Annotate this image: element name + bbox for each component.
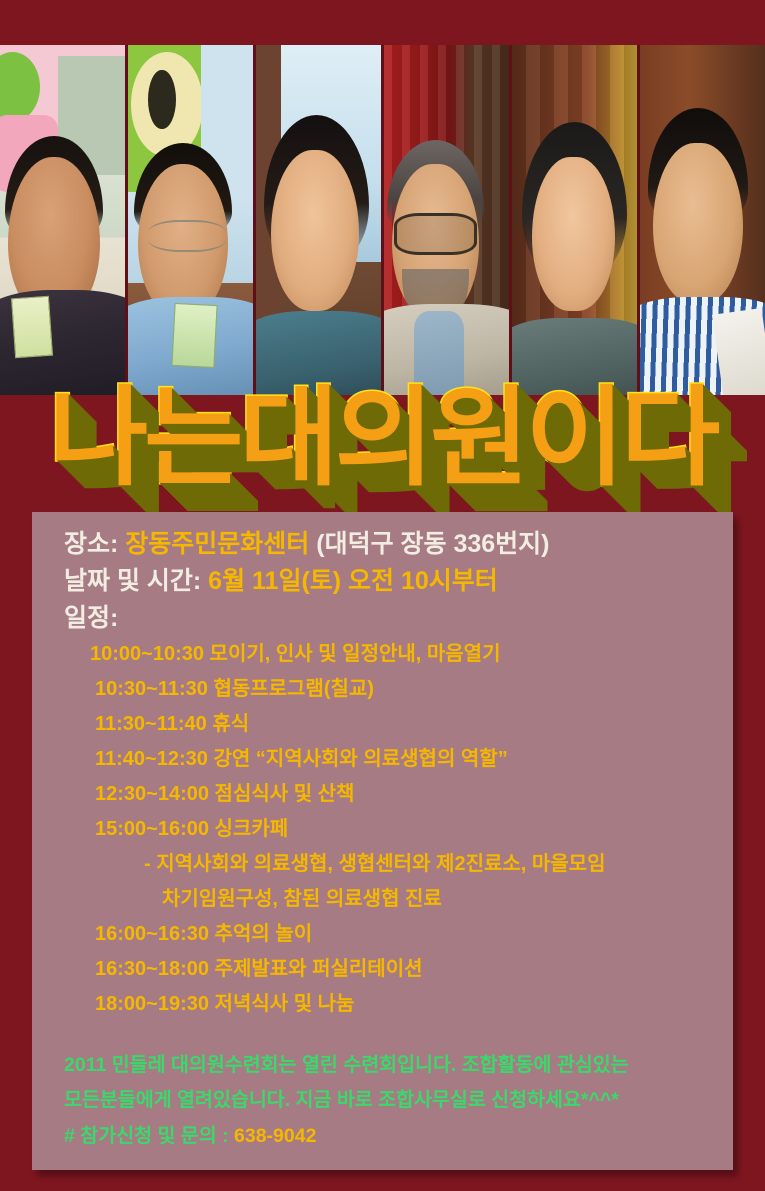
photo-face-5 [532, 157, 615, 311]
portrait-photo-5 [512, 45, 637, 395]
schedule-subitem: - 지역사회와 의료생협, 생협센터와 제2진료소, 마을모임 [32, 847, 733, 882]
datetime-label: 날짜 및 시간: [64, 567, 208, 595]
venue-address: (대덕구 장동 336번지) [309, 530, 549, 558]
page-title: 나는대의원이다 [49, 385, 717, 493]
info-panel: 장소: 장동주민문화센터 (대덕구 장동 336번지) 날짜 및 시간: 6월 … [32, 512, 733, 1170]
footer-contact-line: # 참가신청 및 문의 : 638-9042 [64, 1119, 711, 1155]
schedule-label: 일정: [32, 600, 733, 633]
schedule-item: 16:30~18:00 주제발표와 퍼실리테이션 [32, 952, 733, 987]
photo-glasses-2 [148, 220, 226, 252]
photo-prop-glyph-2 [148, 70, 176, 130]
footer-line-2: 모든분들에게 열려있습니다. 지금 바로 조합사무실로 신청하세요*^^* [64, 1083, 711, 1119]
footer-line-1: 2011 민들레 대의원수련회는 열린 수련회입니다. 조합활동에 관심있는 [64, 1048, 711, 1084]
schedule-item: 11:30~11:40 휴식 [32, 707, 733, 742]
footer-block: 2011 민들레 대의원수련회는 열린 수련회입니다. 조합활동에 관심있는 모… [32, 1048, 733, 1155]
portrait-photo-3 [256, 45, 381, 395]
datetime-line: 날짜 및 시간: 6월 11일(토) 오전 10시부터 [32, 563, 733, 600]
photo-name-badge-1 [10, 296, 52, 358]
contact-label: # 참가신청 및 문의 : [64, 1125, 234, 1147]
photo-name-badge-2 [171, 303, 217, 368]
schedule-item: 18:00~19:30 저녁식사 및 나눔 [32, 987, 733, 1022]
schedule-item: 16:00~16:30 추억의 놀이 [32, 917, 733, 952]
portrait-photo-4 [384, 45, 509, 395]
schedule-item: 11:40~12:30 강연 “지역사회와 의료생협의 역할” [32, 742, 733, 777]
contact-phone: 638-9042 [234, 1125, 316, 1147]
venue-line: 장소: 장동주민문화센터 (대덕구 장동 336번지) [32, 526, 733, 563]
schedule-item: 15:00~16:00 싱크카페 [32, 812, 733, 847]
datetime-value: 6월 11일(토) 오전 10시부터 [208, 567, 498, 595]
portrait-photo-1 [0, 45, 125, 395]
photo-strip [0, 45, 765, 395]
schedule-item: 10:30~11:30 협동프로그램(칠교) [32, 672, 733, 707]
portrait-photo-2 [128, 45, 253, 395]
schedule-item: 12:30~14:00 점심식사 및 산책 [32, 777, 733, 812]
poster-root: 나는대의원이다 장소: 장동주민문화센터 (대덕구 장동 336번지) 날짜 및… [0, 0, 765, 1191]
schedule-list: 10:00~10:30 모이기, 인사 및 일정안내, 마음열기 10:30~1… [32, 633, 733, 1022]
venue-label: 장소: [64, 530, 125, 558]
photo-torso-5 [512, 318, 637, 395]
schedule-item: 10:00~10:30 모이기, 인사 및 일정안내, 마음열기 [32, 637, 733, 672]
portrait-photo-6 [640, 45, 765, 395]
photo-face-6 [653, 143, 743, 304]
photo-face-3 [271, 150, 359, 311]
photo-torso-3 [256, 311, 381, 395]
photo-shirt-4 [414, 311, 464, 395]
photo-glasses-4 [394, 213, 477, 255]
schedule-subitem: 차기임원구성, 참된 의료생협 진료 [32, 882, 733, 917]
venue-name: 장동주민문화센터 [125, 530, 309, 558]
